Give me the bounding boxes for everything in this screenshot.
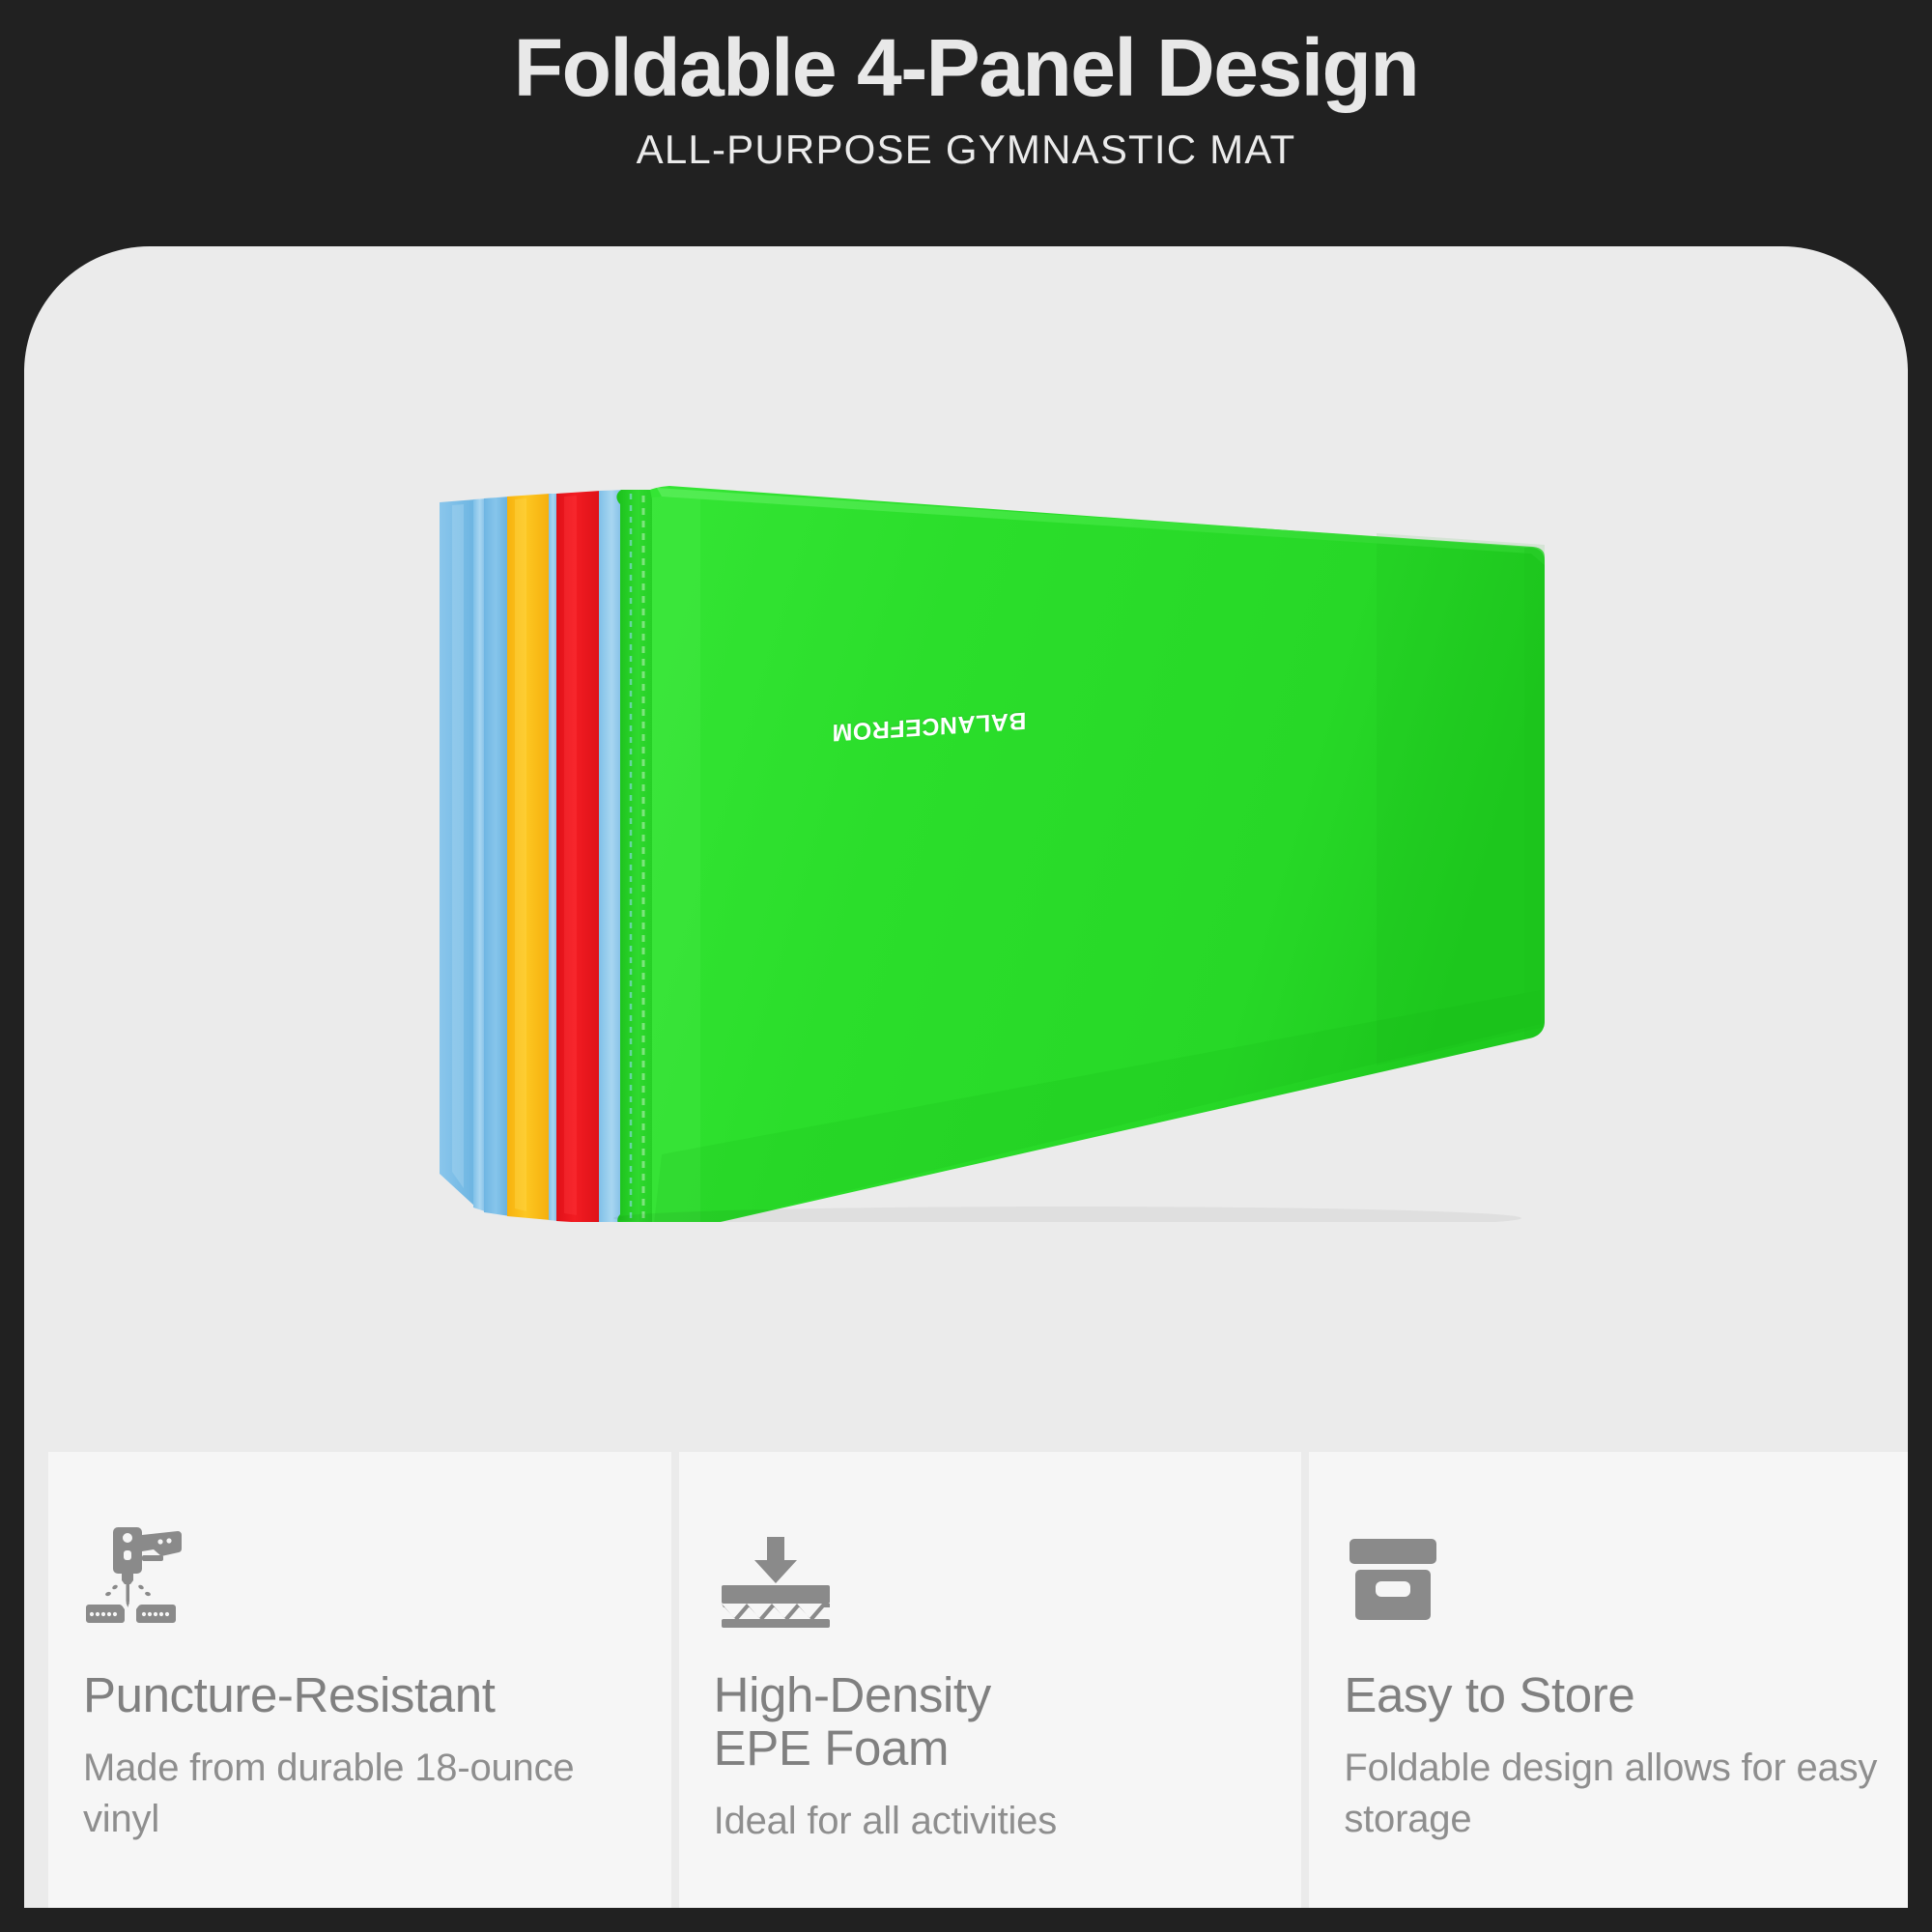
page-title: Foldable 4-Panel Design <box>514 25 1418 111</box>
mat-panel-yellow <box>507 494 551 1220</box>
foam-compression-icon <box>714 1512 1267 1628</box>
product-image-stage: BALANCEFROM <box>24 246 1908 1222</box>
drill-puncture-icon-svg <box>83 1523 199 1628</box>
mat-svg <box>24 246 1908 1222</box>
mat-panel-red <box>556 491 601 1222</box>
page-subtitle: ALL-PURPOSE GYMNASTIC MAT <box>637 127 1296 173</box>
feature-card-easy-to-store: Easy to Store Foldable design allows for… <box>1309 1452 1908 1908</box>
storage-box-icon <box>1344 1512 1897 1628</box>
feature-card-puncture-resistant: Puncture-Resistant Made from durable 18-… <box>48 1452 671 1908</box>
feature-cards: Puncture-Resistant Made from durable 18-… <box>48 1452 1908 1908</box>
gymnastic-mat-illustration <box>24 246 1908 1222</box>
mat-green-face <box>650 486 1545 1222</box>
mat-right-edge <box>1524 547 1545 1037</box>
feature-card-description: Made from durable 18-ounce vinyl <box>83 1743 637 1845</box>
content-panel: BALANCEFROM <box>24 246 1908 1908</box>
feature-card-high-density-epe-foam: High-Density EPE Foam Ideal for all acti… <box>679 1452 1302 1908</box>
mat-panel-blue-face <box>484 497 510 1216</box>
storage-box-icon-svg <box>1344 1531 1442 1628</box>
foam-compression-icon-svg <box>714 1537 838 1628</box>
feature-card-title: High-Density EPE Foam <box>714 1668 1267 1775</box>
feature-card-title: Puncture-Resistant <box>83 1668 637 1721</box>
feature-card-title: Easy to Store <box>1344 1668 1897 1721</box>
mat-panel-blue <box>440 499 476 1207</box>
drill-puncture-icon <box>83 1512 637 1628</box>
header-banner: Foldable 4-Panel Design ALL-PURPOSE GYMN… <box>0 0 1932 246</box>
feature-card-description: Foldable design allows for easy storage <box>1344 1743 1897 1845</box>
infographic-root: Foldable 4-Panel Design ALL-PURPOSE GYMN… <box>0 0 1932 1932</box>
feature-card-description: Ideal for all activities <box>714 1796 1267 1847</box>
mat-green-spine <box>616 490 655 1222</box>
